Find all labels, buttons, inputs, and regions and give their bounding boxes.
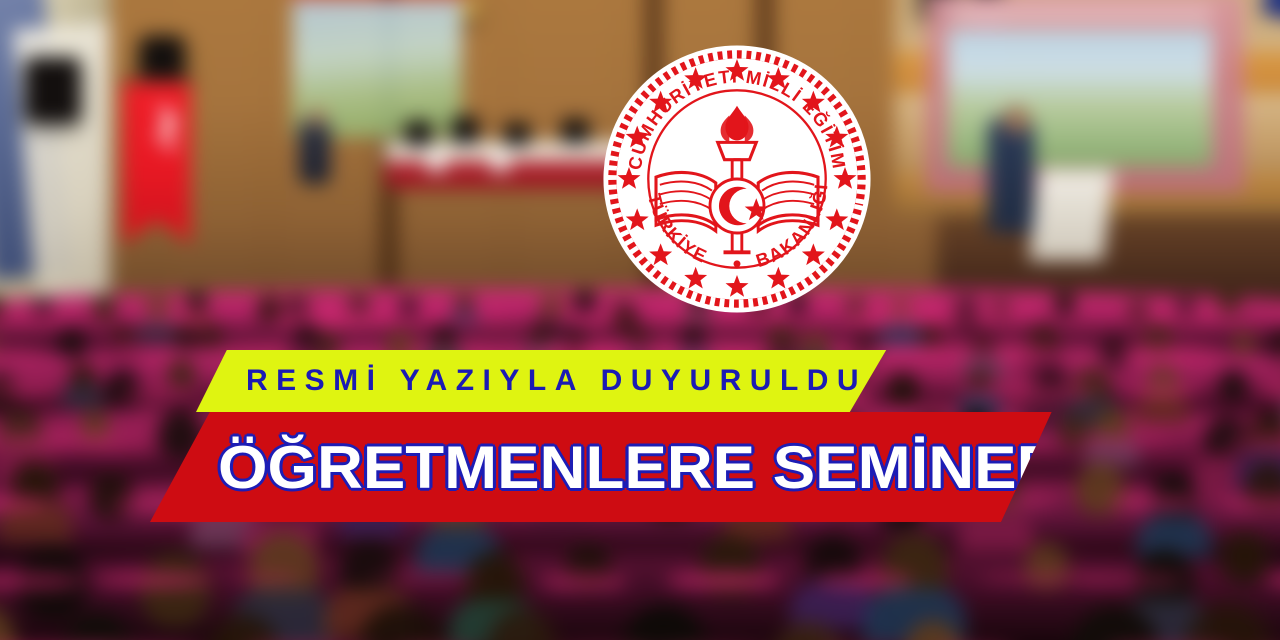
seat-highlight [121,344,196,354]
headline-text: ÖĞRETMENLERE SEMİNER [218,433,1063,502]
desk-paper [428,150,445,171]
seat-highlight [538,573,627,591]
seat-highlight [945,310,1038,320]
seat-highlight [1076,573,1186,587]
stage-speaker-head [1003,106,1031,134]
seat-highlight [272,310,397,327]
crescent-shape [133,106,165,138]
turkish-flag-banner [123,83,191,221]
audience-head [168,359,195,388]
seat-highlight [373,573,478,581]
audience-head [141,552,210,626]
seat-highlight [1125,310,1244,322]
audience-head [57,326,87,358]
audience-head [1219,369,1248,400]
audience-head [1221,531,1269,583]
audience-shoulder [880,323,922,346]
seat-highlight [1069,436,1172,444]
audience-head [1234,332,1254,354]
projection-screen-title-bar [947,4,1212,21]
audience-head [1060,415,1091,448]
seat-highlight [117,385,197,403]
ceiling-speaker-icon [25,57,80,123]
podium [1029,169,1114,260]
microphone-icon [504,123,529,146]
audience-head [887,372,919,406]
seat-highlight [92,573,212,587]
seat-highlight [382,310,512,323]
seat-highlight [1104,344,1227,360]
microphone-icon [451,116,479,144]
stage-speaker-body [988,116,1035,233]
seat-highlight [813,573,914,588]
seat-highlight [132,310,214,327]
seat-highlight [948,344,1055,355]
audience-shoulder [61,385,102,408]
kicker-text: RESMİ YAZIYLA DUYURULDU [246,364,867,398]
lecturer-body [299,119,331,185]
news-thumbnail-canvas: CUMHURİYETİ MİLLİ EĞİTİM TÜRKİYE BAKANLI… [0,0,1280,640]
microphone-icon [405,121,433,146]
seat-highlight [665,573,782,588]
microphone-icon [562,119,590,144]
audience-head [700,534,759,598]
audience-head [1054,292,1074,314]
lecturer-head [307,108,326,127]
seat-highlight [1117,385,1202,398]
audience-head [200,324,222,348]
seat-highlight [1109,497,1201,510]
seat-highlight [85,436,159,451]
audience-head [93,295,115,319]
headline-banner: ÖĞRETMENLERE SEMİNER [150,412,1070,522]
meb-seal-logo: CUMHURİYETİ MİLLİ EĞİTİM TÜRKİYE BAKANLI… [598,44,876,314]
audience-head [90,474,132,520]
audience-shoulder [1137,395,1188,423]
seat-highlight [227,573,303,583]
seat-highlight [957,385,1097,400]
kicker-banner: RESMİ YAZIYLA DUYURULDU [196,350,896,412]
desk-paper [492,150,509,171]
star-shape [165,140,175,150]
